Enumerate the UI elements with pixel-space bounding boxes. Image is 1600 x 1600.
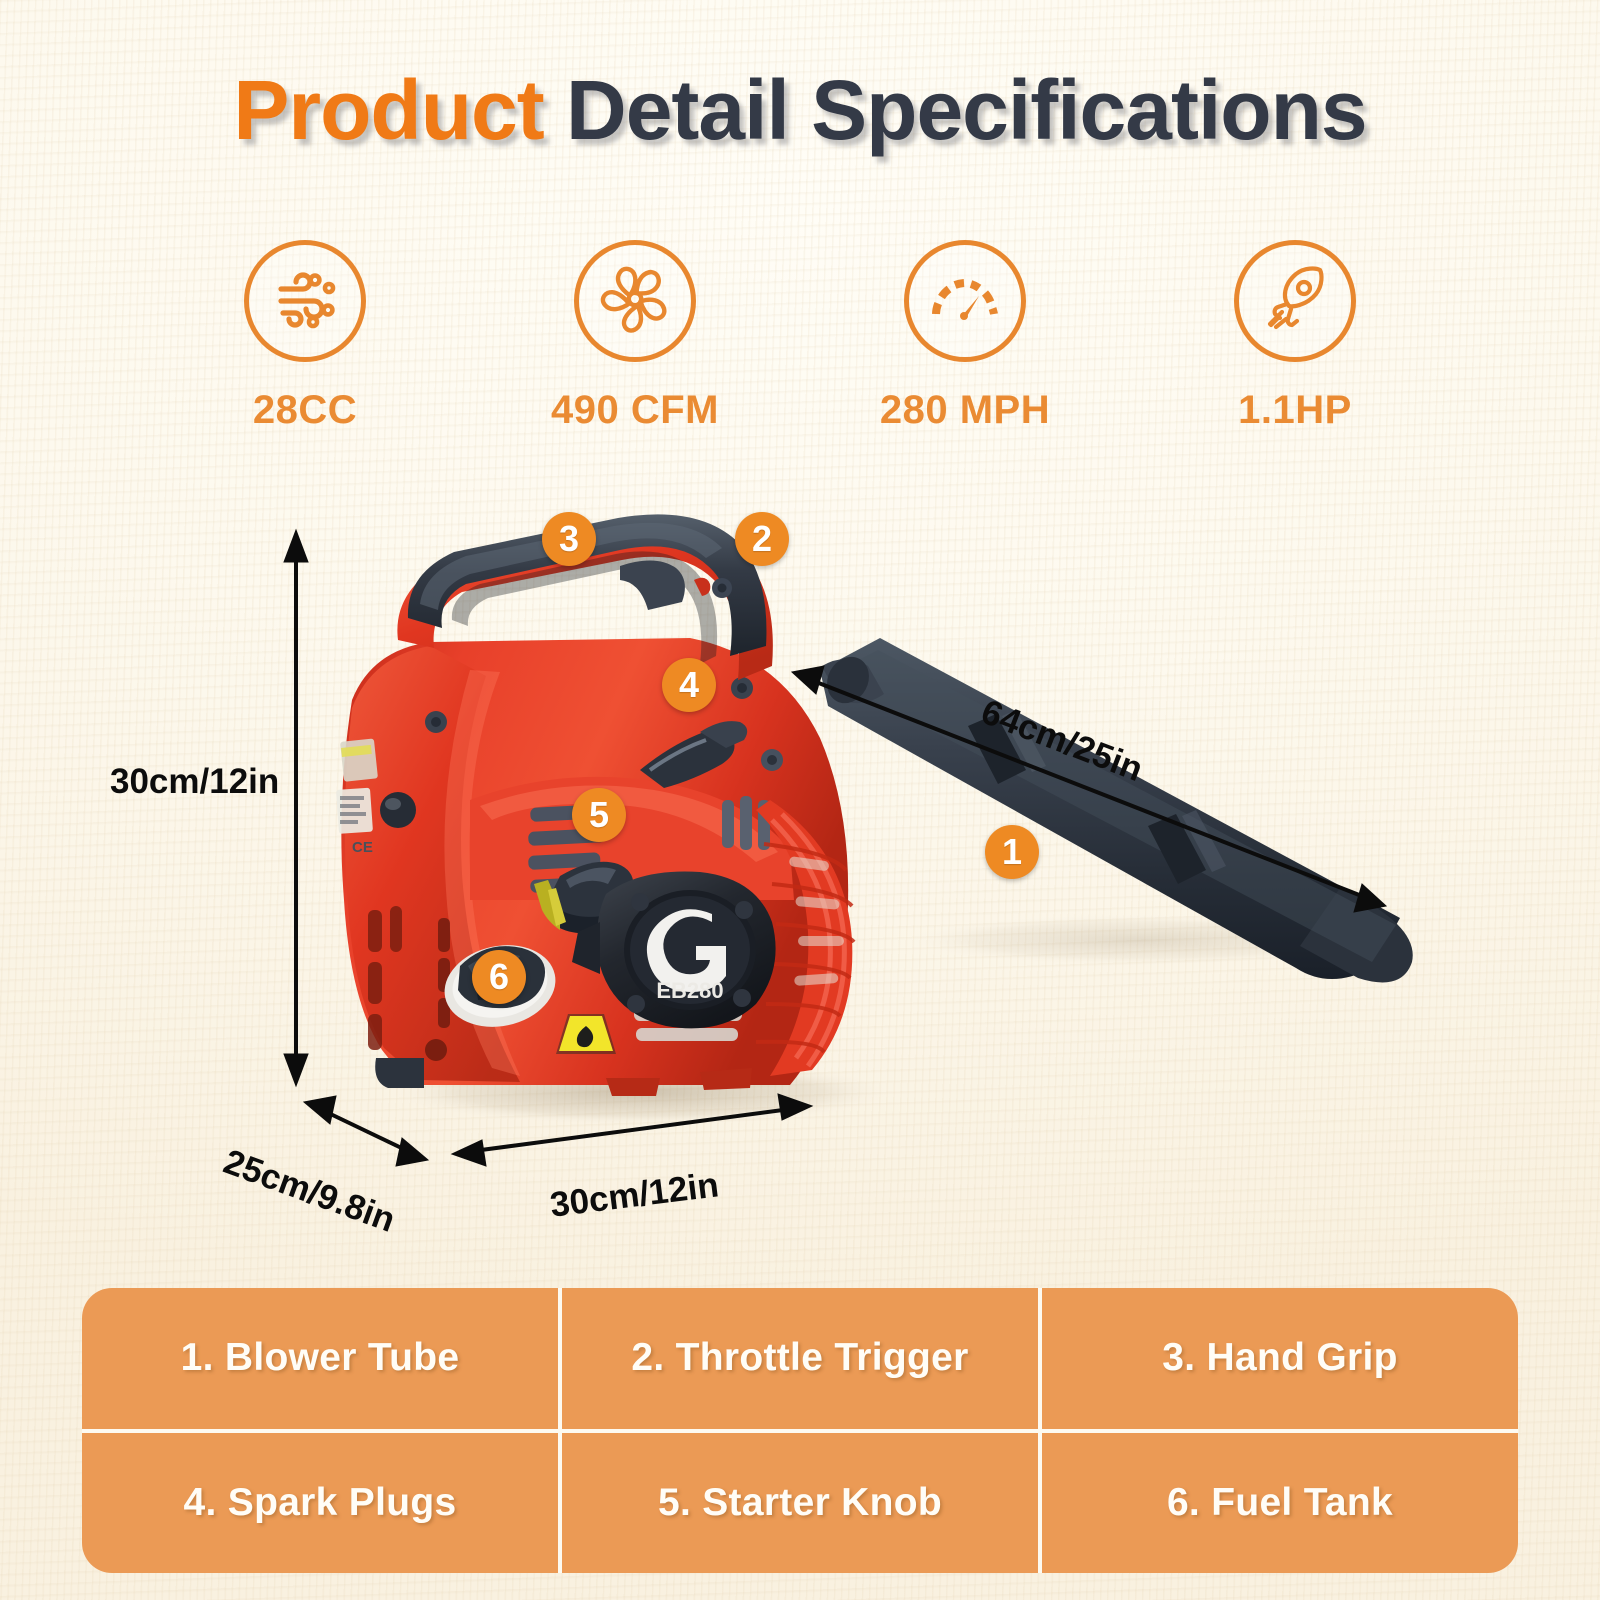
spec-label-power: 1.1HP <box>1238 388 1352 433</box>
page-title-rest: Detail Specifications <box>544 63 1367 157</box>
spec-icon-ring <box>1234 240 1356 362</box>
product-svg: EB280 <box>0 470 1600 1260</box>
product-illustration: EB280 <box>0 470 1600 1260</box>
legend-cell-hand-grip[interactable]: 3. Hand Grip <box>1042 1288 1518 1429</box>
spec-icon-row: 28CC 490 CFM <box>140 240 1460 433</box>
callout-marker-1[interactable]: 1 <box>985 825 1039 879</box>
legend-cell-throttle-trigger[interactable]: 2. Throttle Trigger <box>562 1288 1038 1429</box>
speedometer-icon <box>925 259 1005 344</box>
svg-text:CE: CE <box>352 839 373 856</box>
legend-cell-fuel-tank[interactable]: 6. Fuel Tank <box>1042 1433 1518 1574</box>
legend-cell-starter-knob[interactable]: 5. Starter Knob <box>562 1433 1038 1574</box>
callout-marker-6[interactable]: 6 <box>472 950 526 1004</box>
body-vents-mid <box>438 918 450 1028</box>
callout-marker-3[interactable]: 3 <box>542 512 596 566</box>
legend-cell-blower-tube[interactable]: 1. Blower Tube <box>82 1288 558 1429</box>
infographic-page: Product Detail Specifications <box>0 0 1600 1600</box>
spec-label-speed: 280 MPH <box>880 388 1050 433</box>
spec-label-airflow: 490 CFM <box>551 388 719 433</box>
callout-marker-2[interactable]: 2 <box>735 512 789 566</box>
cylinder-fins <box>722 796 770 850</box>
foot-mid <box>606 1078 660 1096</box>
spec-item-displacement: 28CC <box>140 240 470 433</box>
wind-airflow-icon <box>267 261 343 342</box>
spec-item-airflow: 490 CFM <box>470 240 800 433</box>
rocket-icon <box>1258 262 1332 341</box>
legend-cell-spark-plugs[interactable]: 4. Spark Plugs <box>82 1433 558 1574</box>
page-title-highlight: Product <box>233 63 543 157</box>
spec-item-power: 1.1HP <box>1130 240 1460 433</box>
spec-icon-ring <box>904 240 1026 362</box>
page-title: Product Detail Specifications <box>0 62 1600 159</box>
choke-knob[interactable] <box>380 792 416 828</box>
dimension-label-height: 30cm/12in <box>110 762 279 802</box>
spec-icon-ring <box>244 240 366 362</box>
throttle-trigger[interactable] <box>620 560 685 610</box>
foot-left <box>375 1058 424 1088</box>
spec-item-speed: 280 MPH <box>800 240 1130 433</box>
spec-label-displacement: 28CC <box>253 388 357 433</box>
spec-icon-ring <box>574 240 696 362</box>
callout-marker-5[interactable]: 5 <box>572 788 626 842</box>
engine-model-text: EB280 <box>656 978 723 1003</box>
parts-legend-grid: 1. Blower Tube 2. Throttle Trigger 3. Ha… <box>82 1288 1518 1573</box>
callout-marker-4[interactable]: 4 <box>662 658 716 712</box>
fan-blade-icon <box>595 259 675 344</box>
